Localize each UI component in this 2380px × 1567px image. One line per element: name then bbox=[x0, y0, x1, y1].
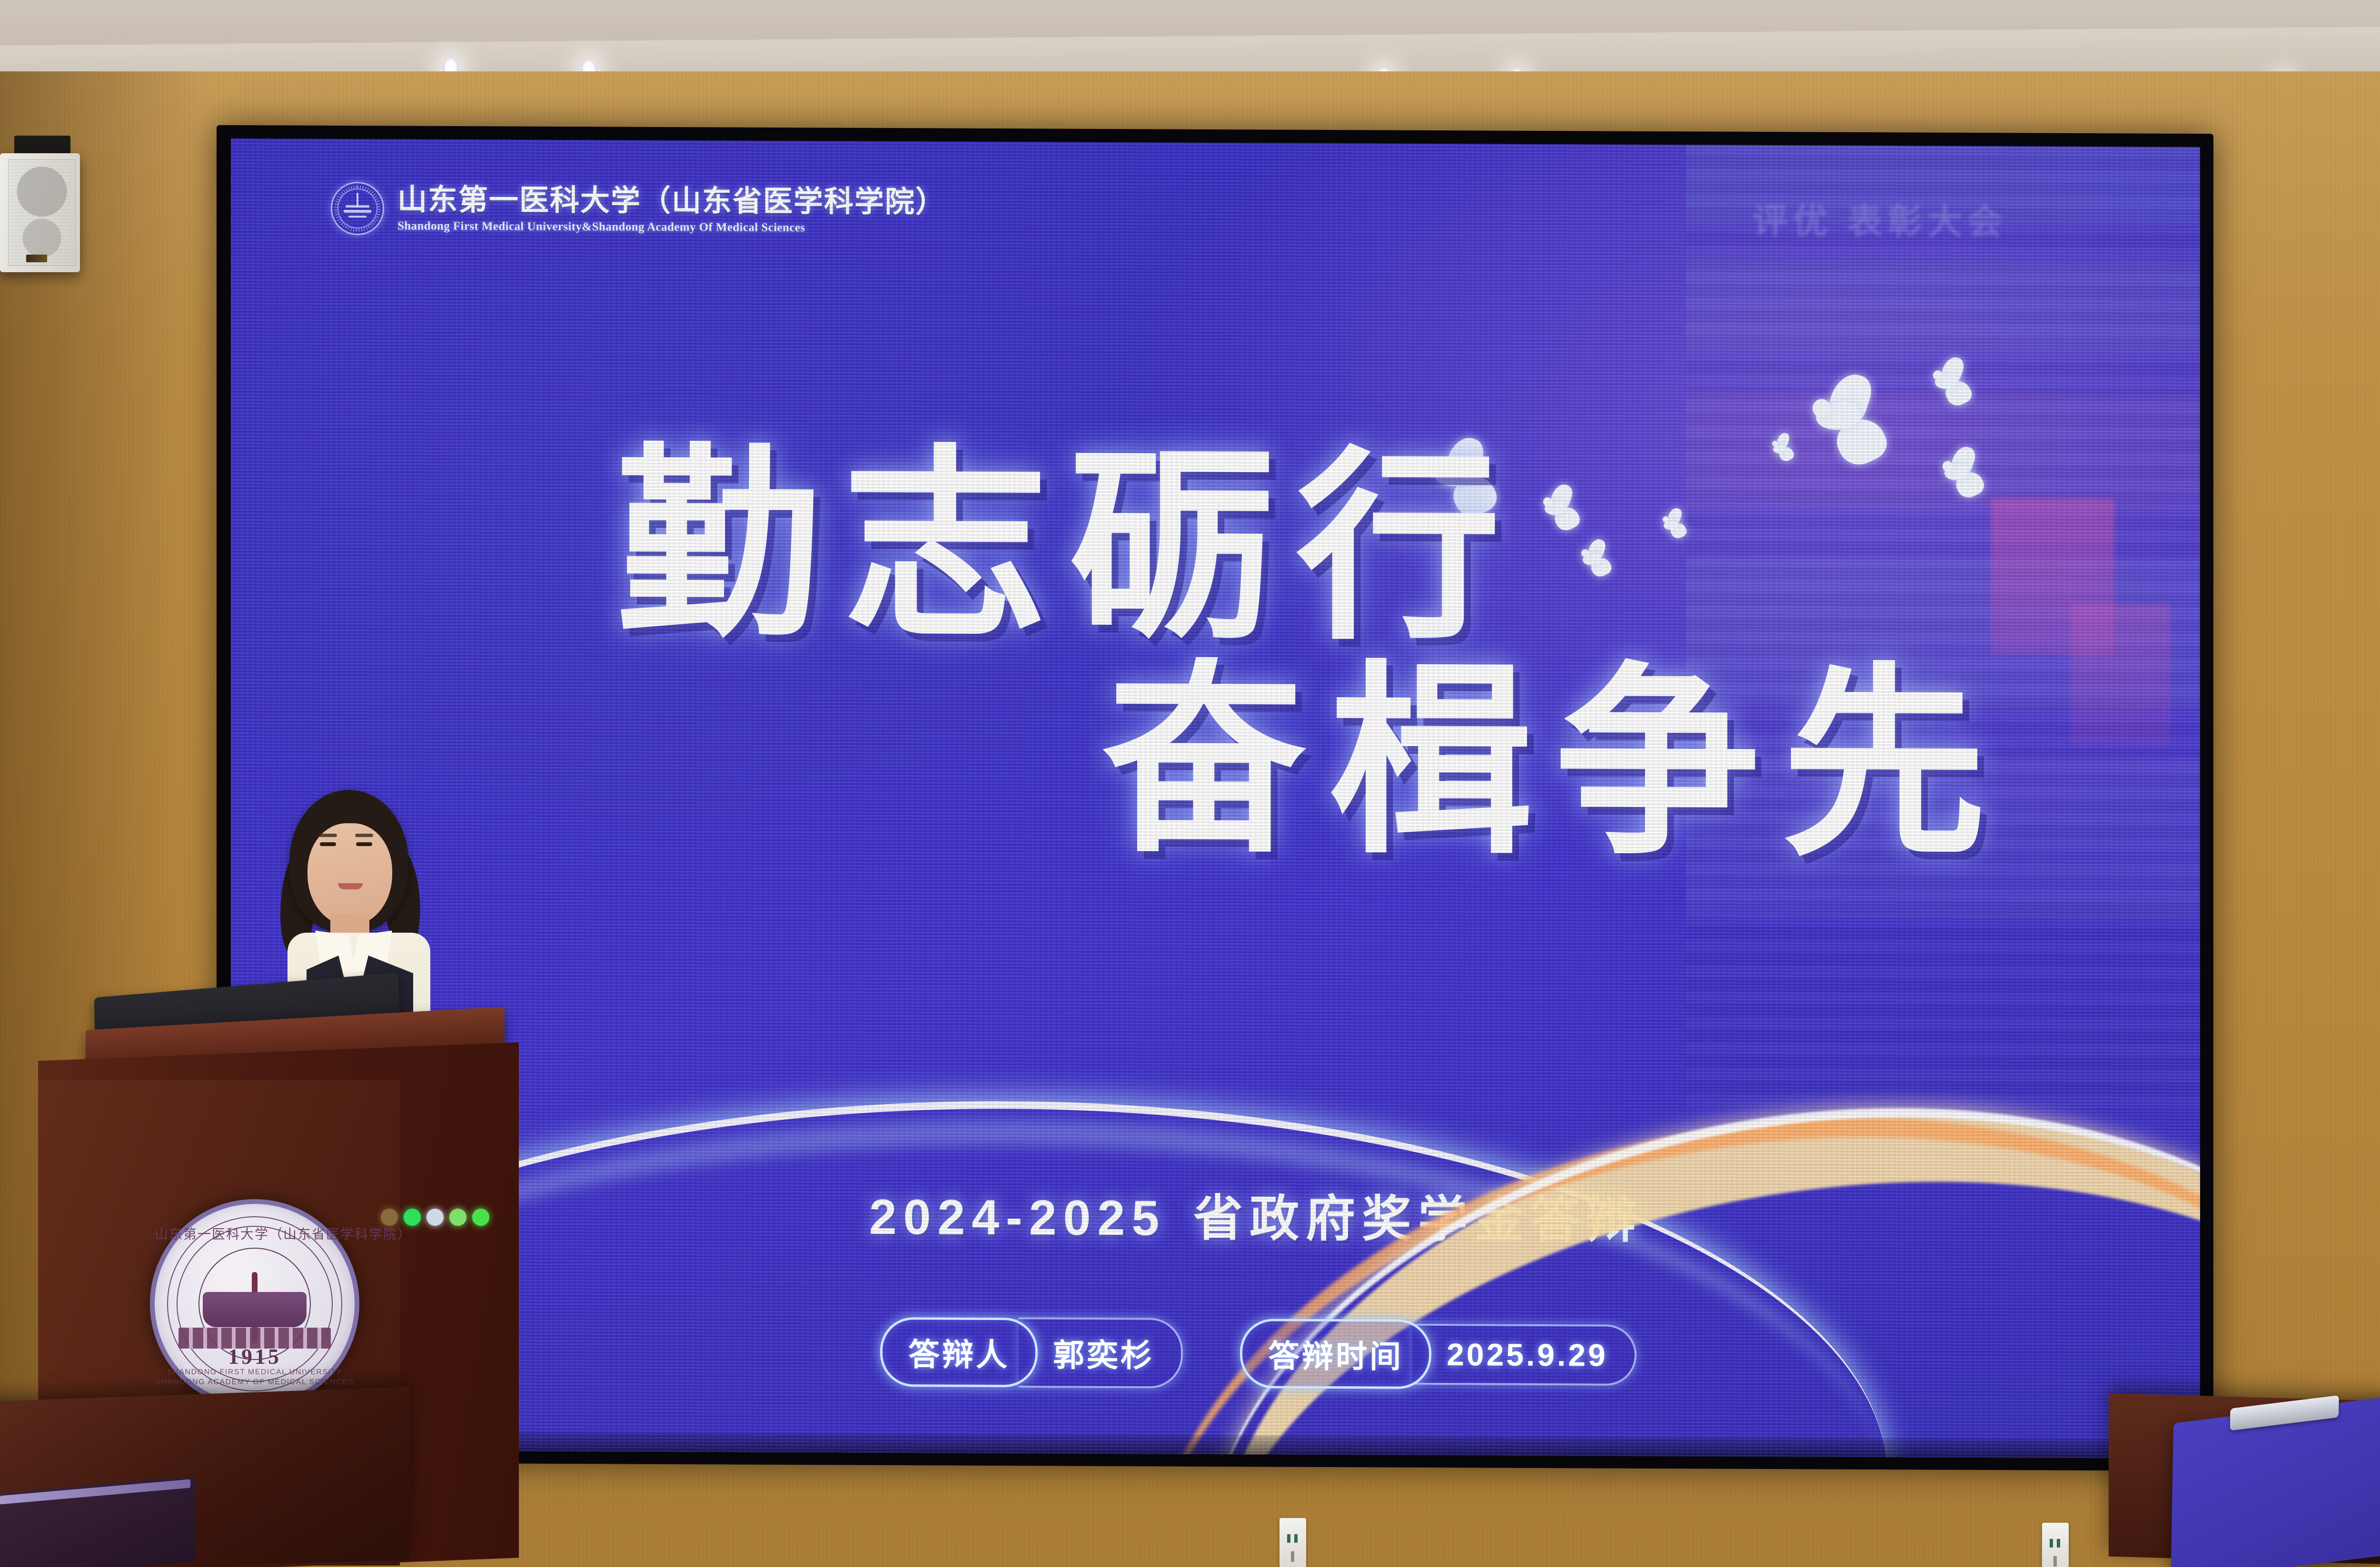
lectern-led-indicators bbox=[381, 1209, 489, 1226]
presenter-pill-label: 答辩人 bbox=[880, 1317, 1038, 1387]
auditorium-scene: 评优 表彰大会 山东第一医科大学（山东省医学科学院） Shandong Firs… bbox=[0, 0, 2380, 1567]
speaker-brand-badge bbox=[26, 255, 47, 262]
led-indicator bbox=[426, 1209, 444, 1226]
university-name-block: 山东第一医科大学（山东省医学科学院） Shandong First Medica… bbox=[397, 184, 946, 236]
date-pill-value: 2025.9.29 bbox=[1412, 1324, 1636, 1386]
emblem-book-icon bbox=[203, 1292, 307, 1327]
slide-title-line1: 勤志砺行 bbox=[616, 445, 2200, 657]
presenter-face bbox=[307, 823, 392, 926]
background-ghost-text: 评优 表彰大会 bbox=[1753, 193, 2057, 256]
emblem-name-cn: 山东第一医科大学（山东省医学科学院） bbox=[155, 1224, 355, 1243]
presenter-pill-value: 郭奕杉 bbox=[1019, 1317, 1183, 1389]
dove-icon bbox=[1935, 370, 1978, 408]
emblem-name-en: SHANDONG FIRST MEDICAL UNIVERSITY SHANDO… bbox=[155, 1367, 355, 1388]
wall-power-outlet bbox=[1279, 1518, 1306, 1567]
presenter-pill: 答辩人 郭奕杉 bbox=[880, 1317, 1183, 1389]
presenter-eye bbox=[356, 842, 372, 846]
crest-emblem-mark bbox=[343, 196, 372, 217]
screen-header: 山东第一医科大学（山东省医学科学院） Shandong First Medica… bbox=[331, 182, 946, 238]
led-indicator bbox=[472, 1209, 489, 1226]
emblem-founding-year: 1915 bbox=[155, 1344, 355, 1369]
university-name-cn: 山东第一医科大学（山东省医学科学院） bbox=[397, 184, 946, 218]
date-pill-label: 答辩时间 bbox=[1240, 1319, 1431, 1389]
speaker-grille-icon bbox=[8, 159, 76, 266]
presentation-screen: 评优 表彰大会 山东第一医科大学（山东省医学科学院） Shandong Firs… bbox=[231, 138, 2200, 1459]
wall-power-outlet bbox=[2042, 1523, 2069, 1567]
presenter-eye bbox=[320, 842, 336, 846]
ceiling bbox=[0, 0, 2380, 79]
slide-title: 勤志砺行 奋楫争先 bbox=[231, 443, 2200, 870]
lectern-university-emblem: 山东第一医科大学（山东省医学科学院） 1915 SHANDONG FIRST M… bbox=[150, 1199, 359, 1409]
led-indicator bbox=[404, 1209, 421, 1226]
presenter-eyebrow bbox=[319, 834, 337, 837]
university-crest-icon bbox=[331, 182, 384, 235]
slide-title-line2: 奋楫争先 bbox=[1102, 661, 2200, 870]
presenter-mouth bbox=[338, 883, 363, 889]
led-indicator bbox=[381, 1209, 398, 1226]
presenter-eyebrow bbox=[355, 834, 373, 837]
university-name-en: Shandong First Medical University&Shando… bbox=[397, 220, 946, 236]
led-indicator bbox=[449, 1209, 466, 1226]
date-pill: 答辩时间 2025.9.29 bbox=[1240, 1319, 1636, 1390]
